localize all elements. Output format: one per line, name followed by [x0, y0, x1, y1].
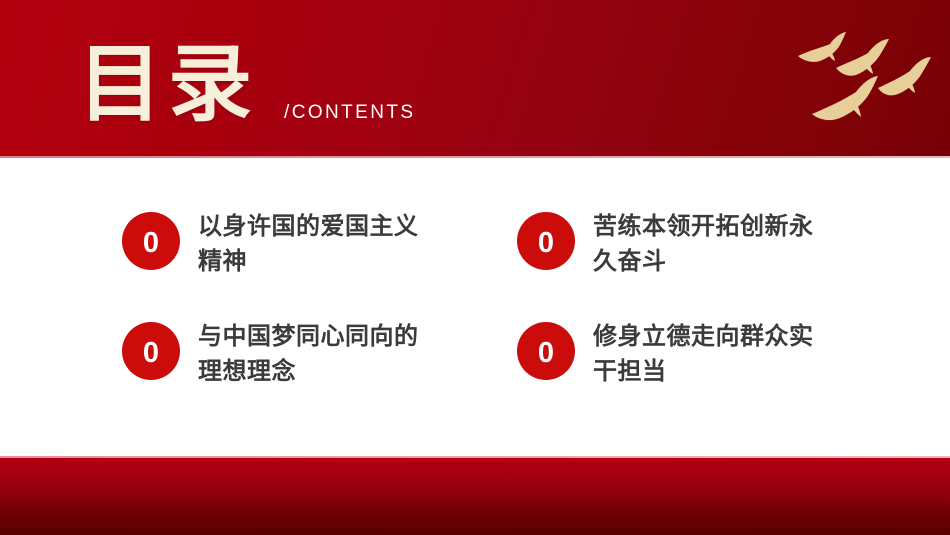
toc-number-3: 0 [122, 337, 180, 369]
page-title: 目录 /CONTENTS [78, 44, 415, 128]
toc-label-3: 与中国梦同心同向的理想理念 [198, 319, 430, 389]
toc-number-2: 0 [517, 227, 575, 259]
toc-badge-3: 0 [122, 322, 180, 380]
toc-number-4: 0 [517, 337, 575, 369]
toc-item-3[interactable]: 0 与中国梦同心同向的理想理念 [122, 320, 517, 430]
toc-item-1[interactable]: 0 以身许国的爱国主义精神 [122, 210, 517, 320]
title-english: /CONTENTS [284, 103, 415, 122]
toc-badge-2: 0 [517, 212, 575, 270]
toc-item-4[interactable]: 0 修身立德走向群众实干担当 [517, 320, 912, 430]
footer-band [0, 456, 950, 535]
presentation-slide: 目录 /CONTENTS 0 [0, 0, 950, 535]
toc-badge-1: 0 [122, 212, 180, 270]
toc-number-1: 0 [122, 227, 180, 259]
toc-label-4: 修身立德走向群众实干担当 [593, 319, 825, 389]
title-chinese: 目录 [78, 44, 258, 128]
toc-label-2: 苦练本领开拓创新永久奋斗 [593, 209, 825, 279]
table-of-contents: 0 以身许国的爱国主义精神 0 苦练本领开拓创新永久奋斗 0 与中国梦同心同向的… [0, 160, 950, 455]
toc-badge-4: 0 [517, 322, 575, 380]
toc-label-1: 以身许国的爱国主义精神 [198, 209, 430, 279]
toc-item-2[interactable]: 0 苦练本领开拓创新永久奋斗 [517, 210, 912, 320]
